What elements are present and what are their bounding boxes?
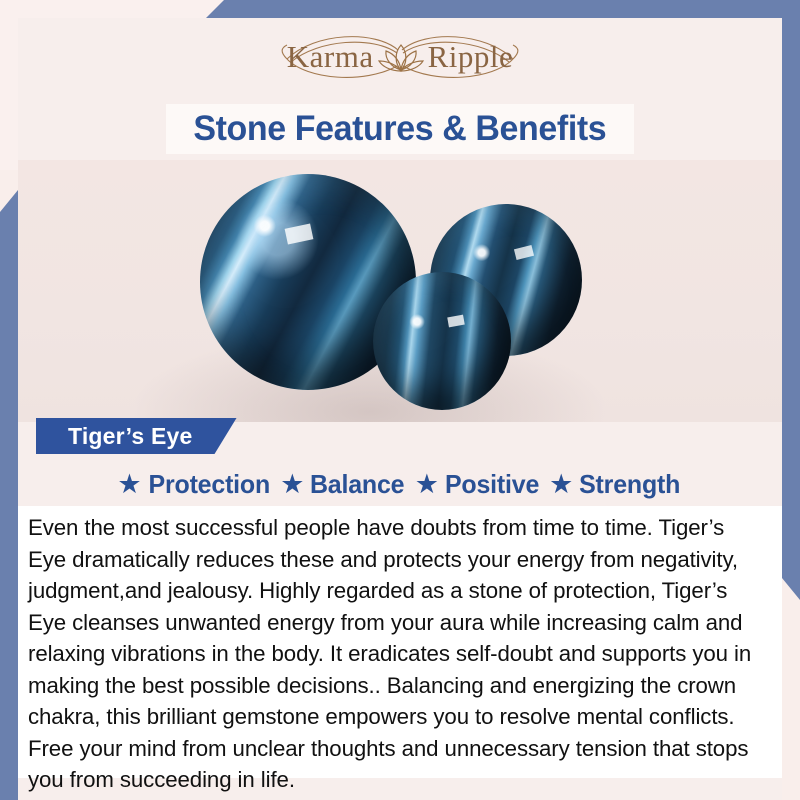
infographic-poster: Karma Ripple Stone Featur — [0, 0, 800, 800]
benefit-label: Protection — [148, 469, 270, 500]
benefit-label: Strength — [579, 469, 680, 500]
logo-word-ripple: Ripple — [428, 39, 514, 75]
lotus-icon — [378, 40, 424, 74]
star-icon: ★ — [549, 471, 573, 498]
page-title: Stone Features & Benefits — [194, 109, 607, 149]
benefit-item-balance: ★ Balance — [280, 469, 407, 500]
star-icon: ★ — [280, 471, 304, 498]
stone-name: Tiger’s Eye — [68, 423, 193, 450]
brand-logo: Karma Ripple — [0, 26, 800, 88]
right-blue-stripe-decoration — [782, 0, 800, 600]
star-icon: ★ — [117, 471, 141, 498]
benefits-row: ★ Protection ★ Balance ★ Positive ★ Stre… — [18, 464, 782, 504]
star-icon: ★ — [415, 471, 439, 498]
benefit-label: Balance — [310, 469, 404, 500]
page-title-band: Stone Features & Benefits — [166, 104, 634, 154]
left-blue-stripe-decoration — [0, 190, 18, 800]
gemstone-photo — [18, 160, 782, 422]
logo-word-karma: Karma — [287, 39, 374, 75]
stone-name-banner: Tiger’s Eye — [36, 418, 237, 454]
description-block: Even the most successful people have dou… — [18, 506, 782, 778]
benefit-item-strength: ★ Strength — [549, 469, 683, 500]
benefit-item-protection: ★ Protection — [117, 469, 272, 500]
description-text: Even the most successful people have dou… — [28, 512, 761, 796]
gemstone-sphere-small — [373, 272, 511, 410]
benefit-label: Positive — [445, 469, 539, 500]
benefit-item-positive: ★ Positive — [415, 469, 541, 500]
